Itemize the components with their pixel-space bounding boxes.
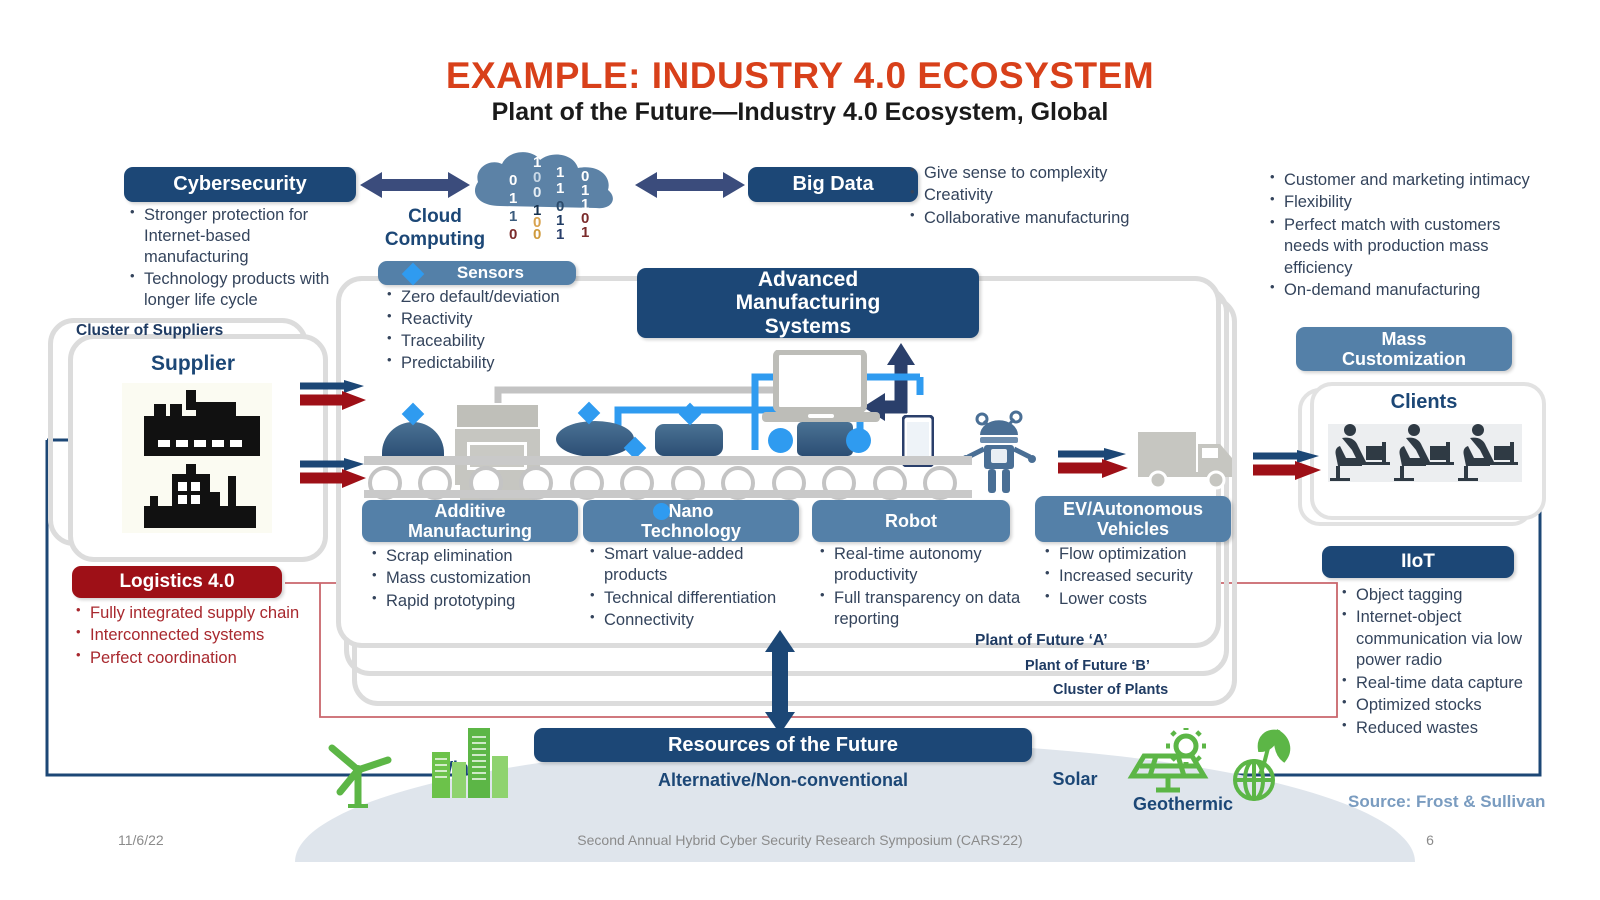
mass-customization-line2: Customization (1342, 349, 1466, 369)
cloud-bit: 1 (533, 155, 541, 170)
cybersecurity-title: Cybersecurity (173, 173, 306, 195)
bigdata-bullets: Give sense to complexity Creativity Coll… (908, 163, 1208, 230)
bigdata-box[interactable]: Big Data (748, 167, 918, 202)
iiot-bullets: Object tagging Internet-object communica… (1340, 585, 1530, 740)
blue-node-dot-1 (768, 428, 793, 453)
robot-bullets: Real-time autonomy productivity Full tra… (818, 544, 1033, 632)
resources-of-the-future-box[interactable]: Resources of the Future (534, 728, 1032, 762)
arrow-plant-to-truck-red (1058, 459, 1130, 481)
nano-dot-icon (653, 503, 670, 520)
list-item: Flexibility (1268, 192, 1548, 213)
cloud-bit: 1 (509, 191, 517, 206)
ev-autonomous-vehicles-box[interactable]: EV/Autonomous Vehicles (1035, 496, 1231, 542)
conveyor-top-rail (364, 456, 972, 465)
list-item: Perfect match with customers needs with … (1268, 215, 1548, 279)
arrow-supplier-to-plant-top-red (300, 391, 368, 413)
resources-title: Resources of the Future (668, 734, 898, 756)
capability-title-line1: Robot (885, 511, 937, 531)
factory-icon (124, 388, 272, 462)
list-item: Real-time autonomy productivity (818, 544, 1033, 587)
iiot-title: IIoT (1401, 551, 1435, 572)
list-item: Real-time data capture (1340, 673, 1530, 694)
nano-technology-bullets: Smart value-added products Technical dif… (588, 544, 788, 633)
solar-label: Solar (1020, 769, 1130, 790)
list-item: Stronger protection for Internet-based m… (128, 205, 343, 268)
cybersecurity-bullets: Stronger protection for Internet-based m… (128, 205, 343, 313)
list-item: Creativity (908, 185, 1208, 206)
cloud-computing-label: Cloud Computing (345, 205, 525, 251)
list-item: Reactivity (385, 309, 605, 330)
arrow-truck-to-clients-red (1253, 461, 1323, 483)
wind-turbine-icon (318, 730, 396, 808)
additive-manufacturing-bullets: Scrap elimination Mass customization Rap… (370, 546, 585, 613)
cloud-bit: 1 (556, 227, 564, 242)
cloud-bit: 1 (556, 165, 564, 180)
list-item: Increased security (1043, 566, 1243, 587)
list-item: Scrap elimination (370, 546, 585, 567)
cloud-bit: 0 (509, 173, 517, 188)
list-item: Internet-object communication via low po… (1340, 607, 1530, 671)
logistics-title: Logistics 4.0 (119, 571, 234, 592)
arrow-plant-to-resources (763, 628, 797, 736)
supplier-label: Supplier (68, 352, 318, 376)
cluster-of-plants-label: Cluster of Plants (1053, 682, 1168, 698)
green-buildings-icon (432, 726, 514, 798)
capability-title-line1: Nano (669, 501, 714, 521)
product-ellipse-2 (556, 421, 634, 457)
cloud-bit: 0 (533, 227, 541, 242)
arrow-cloud-bigdata (635, 168, 745, 202)
truck-icon (1138, 430, 1238, 492)
list-item: Technical differentiation (588, 588, 788, 609)
list-item: Perfect coordination (74, 648, 326, 669)
capability-title-line1: EV/Autonomous (1063, 499, 1203, 519)
capability-title-line2: Manufacturing (408, 521, 532, 541)
ams-line3: Systems (765, 315, 851, 339)
benefits-bullets: Customer and marketing intimacy Flexibil… (1268, 170, 1548, 303)
cloud-label-line1: Cloud (345, 205, 525, 228)
cloud-bit: 0 (533, 170, 541, 185)
product-box-3 (655, 424, 723, 456)
blue-node-dot-2 (846, 428, 871, 453)
logistics-box[interactable]: Logistics 4.0 (72, 566, 282, 598)
bigdata-title: Big Data (792, 173, 873, 195)
eco-globe-icon (1222, 724, 1300, 802)
capability-title-line2: Technology (641, 521, 741, 541)
page-title: EXAMPLE: INDUSTRY 4.0 ECOSYSTEM (0, 55, 1600, 97)
clients-icon (1330, 422, 1522, 484)
list-item: Customer and marketing intimacy (1268, 170, 1548, 191)
ev-autonomous-vehicles-bullets: Flow optimization Increased security Low… (1043, 544, 1243, 611)
list-item: Give sense to complexity (908, 163, 1208, 184)
list-item: Interconnected systems (74, 625, 326, 646)
list-item: Reduced wastes (1340, 718, 1530, 739)
source-label: Source: Frost & Sullivan (1348, 792, 1545, 812)
cloud-bit: 1 (556, 181, 564, 196)
list-item: Traceability (385, 331, 605, 352)
footer-page-number: 6 (1400, 832, 1460, 848)
advanced-manufacturing-box[interactable]: Advanced Manufacturing Systems (637, 268, 979, 338)
ams-line1: Advanced (758, 268, 858, 292)
list-item: Rapid prototyping (370, 591, 585, 612)
industrial-building-icon (124, 462, 272, 536)
plant-of-future-b-label: Plant of Future ‘B’ (1025, 658, 1150, 674)
list-item: Optimized stocks (1340, 695, 1530, 716)
cluster-of-suppliers-label: Cluster of Suppliers (76, 322, 223, 340)
mass-customization-line1: Mass (1381, 329, 1426, 349)
sensors-title: Sensors (457, 263, 524, 282)
cloud-bit: 0 (533, 185, 541, 200)
additive-manufacturing-box[interactable]: Additive Manufacturing (362, 500, 578, 542)
list-item: Connectivity (588, 610, 788, 631)
list-item: Lower costs (1043, 589, 1243, 610)
arrow-cybersecurity-cloud (360, 168, 470, 202)
list-item: Full transparency on data reporting (818, 588, 1033, 631)
mass-customization-box[interactable]: Mass Customization (1296, 327, 1512, 371)
cybersecurity-box[interactable]: Cybersecurity (124, 167, 356, 202)
logistics-bullets: Fully integrated supply chain Interconne… (74, 603, 326, 670)
list-item: On-demand manufacturing (1268, 280, 1548, 301)
plant-of-future-a-label: Plant of Future ‘A’ (975, 632, 1108, 650)
capability-title-line1: Additive (434, 501, 505, 521)
list-item: Smart value-added products (588, 544, 788, 587)
cloud-label-line2: Computing (345, 228, 525, 251)
arrow-supplier-to-plant-bottom-red (300, 469, 368, 491)
cloud-bit: 1 (581, 225, 589, 240)
capability-title-line2: Vehicles (1097, 519, 1169, 539)
list-item: Technology products with longer life cyc… (128, 269, 343, 311)
ams-line2: Manufacturing (736, 291, 881, 315)
solar-panel-icon (1120, 728, 1212, 798)
page-subtitle: Plant of the Future—Industry 4.0 Ecosyst… (0, 98, 1600, 127)
footer-center-text: Second Annual Hybrid Cyber Security Rese… (0, 832, 1600, 848)
nano-technology-box[interactable]: Nano Technology (583, 500, 799, 542)
list-item: Zero default/deviation (385, 287, 605, 308)
list-item: Mass customization (370, 568, 585, 589)
list-item: Flow optimization (1043, 544, 1243, 565)
conveyor-bottom-rail (364, 490, 972, 498)
list-item: Fully integrated supply chain (74, 603, 326, 624)
robot-box[interactable]: Robot (812, 500, 1010, 542)
iiot-box[interactable]: IIoT (1322, 546, 1514, 578)
list-item: Collaborative manufacturing (908, 208, 1208, 229)
machine-top (455, 403, 540, 429)
laptop-icon (762, 350, 880, 428)
list-item: Object tagging (1340, 585, 1530, 606)
clients-label: Clients (1310, 391, 1538, 414)
resources-subtitle: Alternative/Non-conventional (534, 770, 1032, 791)
